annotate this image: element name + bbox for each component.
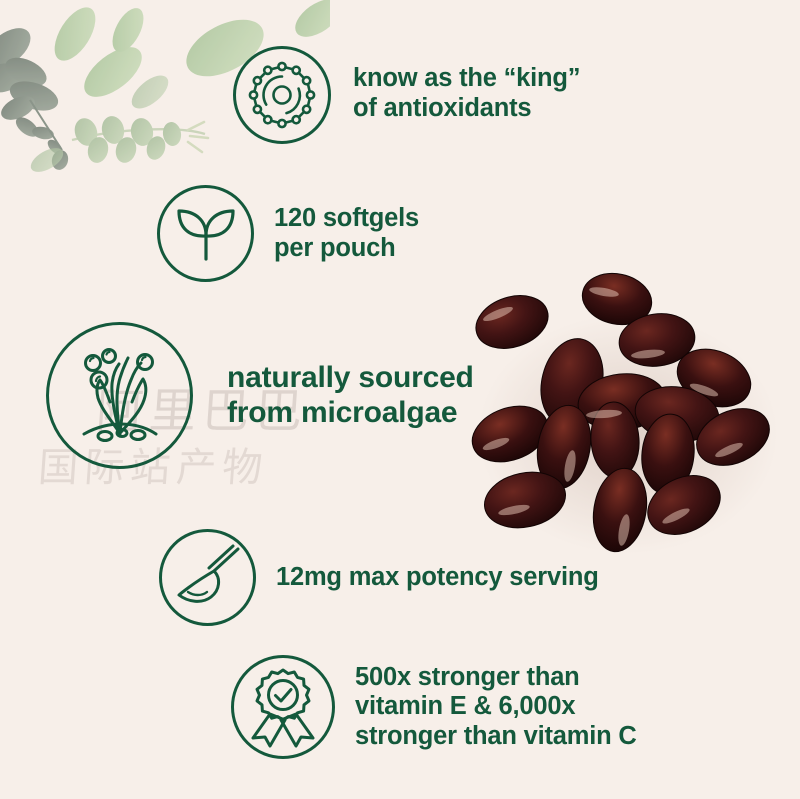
sprout-leaves-icon (173, 203, 239, 265)
feature-microalgae: naturally sourced from microalgae (46, 322, 474, 469)
feature-potency: 12mg max potency serving (159, 529, 599, 626)
feature-softgels: 120 softgels per pouch (157, 185, 419, 282)
astaxanthin-softgel-capsules (452, 262, 800, 562)
product-infographic: 阿里巴巴 国际站产物 (0, 0, 800, 799)
feature-strength: 500x stronger than vitamin E & 6,000x st… (231, 655, 637, 759)
feature-icon-badge (231, 655, 335, 759)
feature-icon-badge (157, 185, 254, 282)
feature-icon-badge (159, 529, 256, 626)
antioxidant-molecule-icon (246, 59, 318, 131)
feature-label-antioxidant: know as the “king” of antioxidants (353, 64, 580, 123)
feature-antioxidant: know as the “king” of antioxidants (233, 46, 580, 144)
feature-label-softgels: 120 softgels per pouch (274, 204, 419, 263)
seaweed-microalgae-icon (68, 344, 172, 448)
spoon-icon (173, 545, 243, 611)
feature-icon-badge (46, 322, 193, 469)
feature-label-strength: 500x stronger than vitamin E & 6,000x st… (355, 663, 637, 752)
award-ribbon-icon (246, 668, 320, 746)
feature-label-microalgae: naturally sourced from microalgae (227, 361, 474, 431)
feature-icon-badge (233, 46, 331, 144)
feature-label-potency: 12mg max potency serving (276, 563, 599, 593)
